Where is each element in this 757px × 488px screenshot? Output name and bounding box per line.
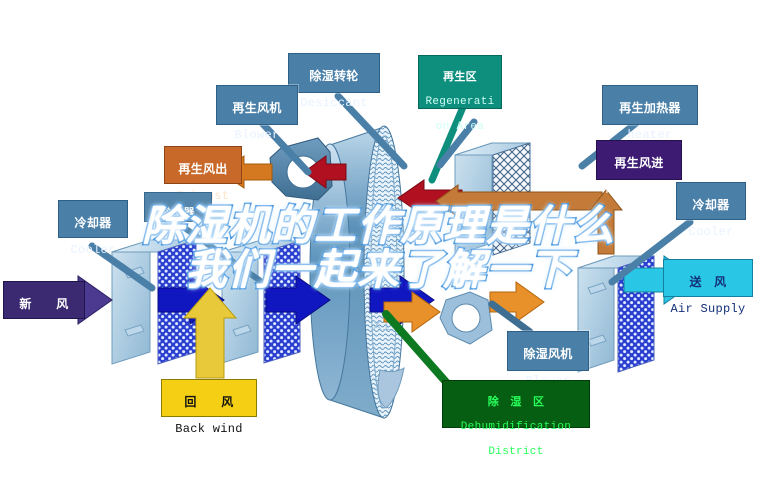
label-regeneration-blower-en: Blower xyxy=(217,129,297,142)
label-cooler-left-outer[interactable]: 冷却器 Cooler xyxy=(58,200,128,238)
label-regeneration-blower[interactable]: 再生风机 Blower xyxy=(216,85,298,125)
label-cooler-left-inner-cn: 冷却器 xyxy=(145,207,211,219)
dehumid-blower xyxy=(440,292,492,344)
label-regeneration-area[interactable]: 再生区 Regenerati on Area xyxy=(418,55,502,109)
label-back-wind-cn: 回 风 xyxy=(162,396,256,409)
label-regeneration-heater-cn: 再生加热器 xyxy=(603,102,697,115)
label-regeneration-fresh-air-cn: 再生风进 xyxy=(597,157,681,170)
label-cooler-left-inner[interactable]: 冷却器 xyxy=(144,192,212,222)
label-fresh-air-en: Fresh Air xyxy=(4,325,84,338)
label-regeneration-fresh-air[interactable]: 再生风进 Fresh Air xyxy=(596,140,682,180)
label-dehumidification-district-en1: Dehumidification xyxy=(443,421,589,433)
label-exhaust[interactable]: 再生风出 Exhaust xyxy=(164,146,242,184)
label-dehumidification-district-cn: 除 湿 区 xyxy=(443,396,589,408)
label-cooler-right[interactable]: 冷却器 Cooler xyxy=(676,182,746,220)
label-fresh-air-cn: 新 风 xyxy=(4,298,84,311)
label-fresh-air[interactable]: 新 风 Fresh Air xyxy=(3,281,85,319)
label-exhaust-cn: 再生风出 xyxy=(165,163,241,176)
label-regeneration-fresh-air-en: Fresh Air xyxy=(597,184,681,197)
drain-tray xyxy=(378,368,404,408)
label-air-supply-en: Air Supply xyxy=(664,303,752,316)
dry-air-arrow-2 xyxy=(490,282,544,322)
label-regeneration-blower-cn: 再生风机 xyxy=(217,102,297,115)
label-dehumidification-blower[interactable]: 除湿风机 Blower xyxy=(507,331,589,371)
label-back-wind[interactable]: 回 风 Back wind xyxy=(161,379,257,417)
label-cooler-right-en: Cooler xyxy=(677,226,745,239)
label-dehumidification-blower-cn: 除湿风机 xyxy=(508,348,588,361)
label-cooler-left-outer-cn: 冷却器 xyxy=(59,217,127,230)
label-back-wind-en: Back wind xyxy=(162,423,256,436)
label-cooler-right-cn: 冷却器 xyxy=(677,199,745,212)
label-regeneration-heater[interactable]: 再生加热器 heater xyxy=(602,85,698,125)
label-desiccant-wheel[interactable]: 除湿转轮 Desiccant xyxy=(288,53,380,93)
dehumidifier-principle-diagram: X1 xyxy=(0,0,757,488)
label-regeneration-area-en1: Regenerati xyxy=(419,96,501,108)
label-cooler-left-outer-en: Cooler xyxy=(59,244,127,257)
label-dehumidification-district[interactable]: 除 湿 区 Dehumidification District xyxy=(442,380,590,428)
label-desiccant-wheel-cn: 除湿转轮 xyxy=(289,70,379,83)
label-regeneration-area-en2: on Area xyxy=(419,121,501,133)
label-air-supply[interactable]: 送 风 Air Supply xyxy=(663,259,753,297)
label-dehumidification-district-en2: District xyxy=(443,446,589,458)
label-desiccant-wheel-en: Desiccant xyxy=(289,97,379,110)
label-regeneration-area-cn: 再生区 xyxy=(419,71,501,83)
label-air-supply-cn: 送 风 xyxy=(664,276,752,289)
